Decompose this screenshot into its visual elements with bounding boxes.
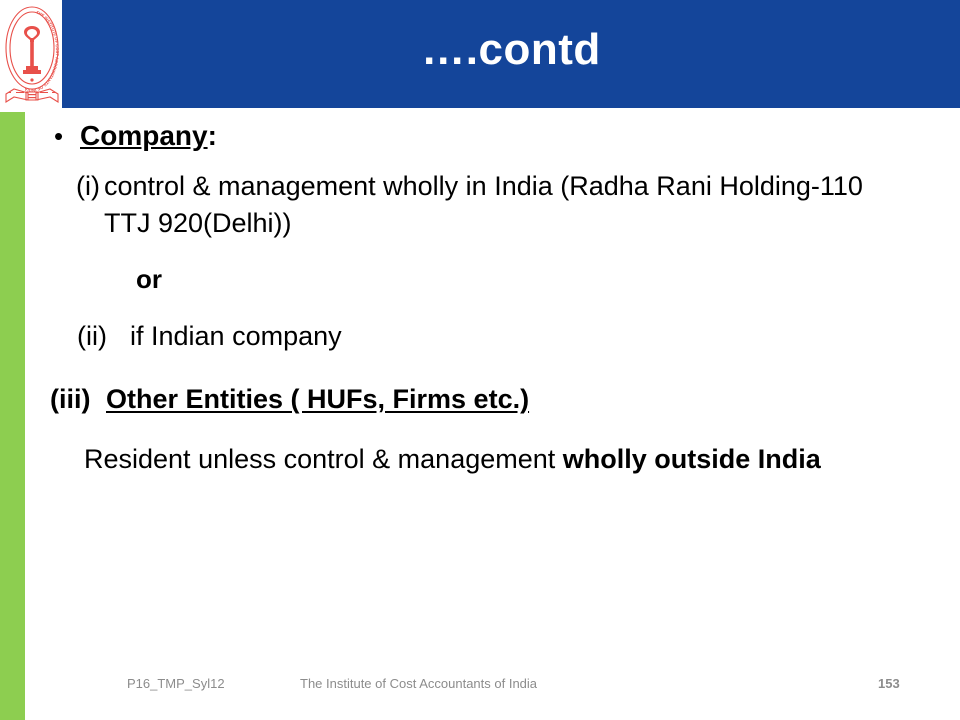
footer-paper-code: P16_TMP_Syl12 — [127, 676, 225, 691]
bullet-company-label: Company: — [80, 118, 217, 154]
list-marker-ii: (ii) — [77, 318, 130, 355]
slide-canvas: THE INSTITUTE OF COST ACCOUNTANTS OF IND… — [0, 0, 960, 720]
list-text-i: control & management wholly in India (Ra… — [104, 168, 904, 242]
slide-body: • Company: (i) control & management whol… — [44, 118, 924, 478]
list-marker-iii: (iii) — [50, 381, 106, 417]
bullet-company-colon: : — [208, 120, 217, 151]
bullet-company: • Company: — [44, 118, 924, 154]
footer-organization: The Institute of Cost Accountants of Ind… — [300, 676, 537, 691]
list-item-i: (i) control & management wholly in India… — [44, 168, 924, 242]
slide-footer: P16_TMP_Syl12 The Institute of Cost Acco… — [0, 676, 960, 702]
resident-bold-text: wholly outside India — [563, 444, 821, 474]
resident-normal-text: Resident unless control & management — [84, 444, 563, 474]
list-text-ii: if Indian company — [130, 318, 342, 355]
list-marker-i: (i) — [44, 168, 104, 205]
left-accent-bar — [0, 112, 25, 720]
resident-paragraph: Resident unless control & management who… — [44, 441, 884, 478]
bullet-company-text: Company — [80, 120, 208, 151]
conjunction-or-row: or — [44, 262, 924, 296]
list-item-iii: (iii) Other Entities ( HUFs, Firms etc.) — [44, 381, 924, 417]
footer-page-number: 153 — [878, 676, 900, 691]
list-text-iii: Other Entities ( HUFs, Firms etc.) — [106, 381, 529, 417]
slide-title: ….contd — [62, 0, 960, 108]
bullet-marker: • — [44, 118, 80, 154]
list-item-ii: (ii) if Indian company — [44, 318, 924, 355]
conjunction-or: or — [136, 264, 162, 294]
institute-logo: THE INSTITUTE OF COST ACCOUNTANTS OF IND… — [2, 4, 62, 108]
title-banner: ….contd — [62, 0, 960, 108]
